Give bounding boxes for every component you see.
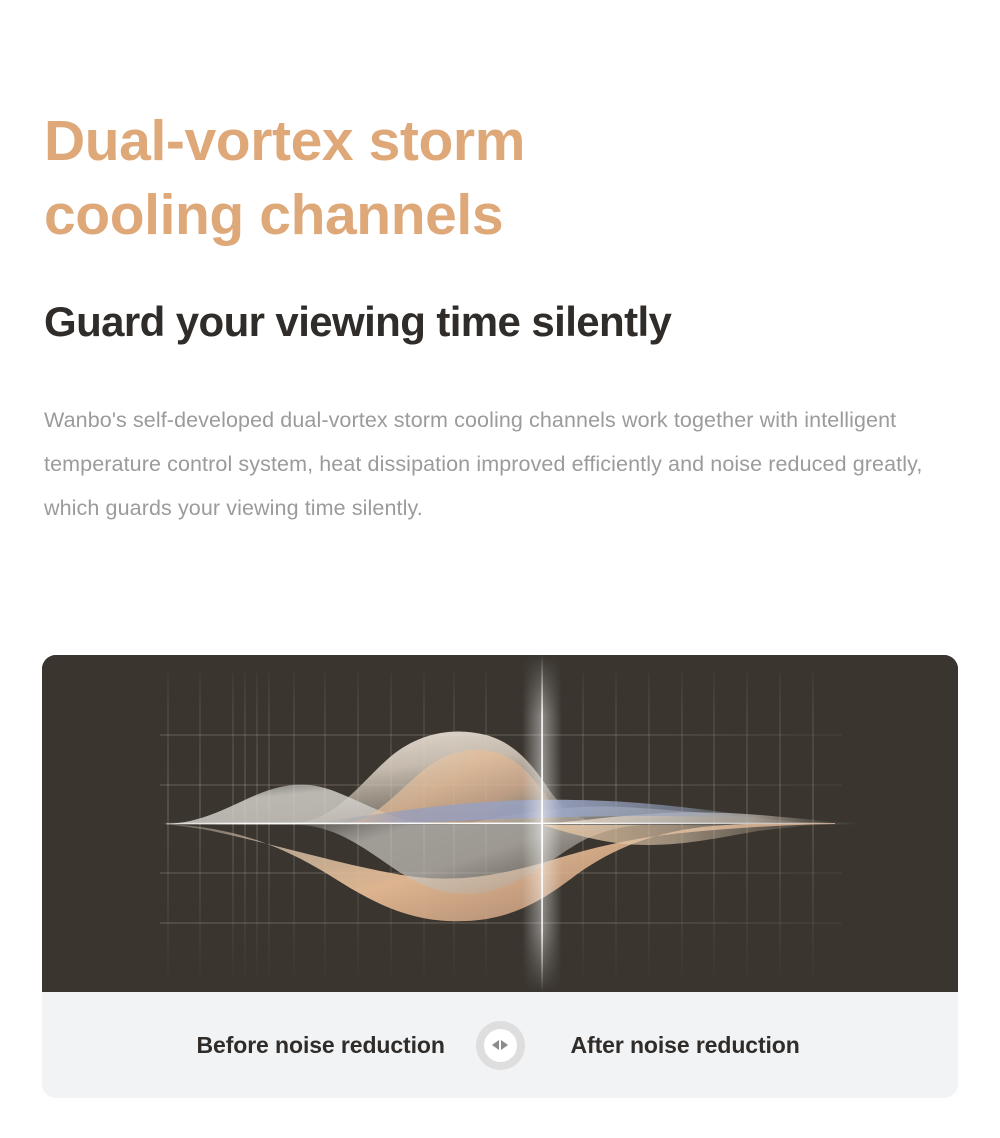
intro-text-block: Dual-vortex storm cooling channels Guard… [44, 104, 956, 530]
page-subtitle: Guard your viewing time silently [44, 296, 956, 348]
page-title: Dual-vortex storm cooling channels [44, 104, 956, 252]
center-axis-line [160, 823, 860, 825]
comparison-slider-handle[interactable] [476, 1021, 525, 1070]
waveform-visualization-panel [42, 655, 958, 992]
comparison-caption-bar: Before noise reduction After noise reduc… [42, 992, 958, 1098]
slider-handle-core[interactable] [484, 1029, 517, 1062]
before-label: Before noise reduction [146, 1032, 476, 1059]
after-label: After noise reduction [525, 1032, 855, 1059]
waveform-chart [42, 655, 958, 992]
divider-line [541, 655, 543, 992]
arrow-left-icon [492, 1040, 499, 1050]
arrow-right-icon [501, 1040, 508, 1050]
body-paragraph: Wanbo's self-developed dual-vortex storm… [44, 398, 949, 530]
noise-comparison-card: Before noise reduction After noise reduc… [42, 655, 958, 1098]
